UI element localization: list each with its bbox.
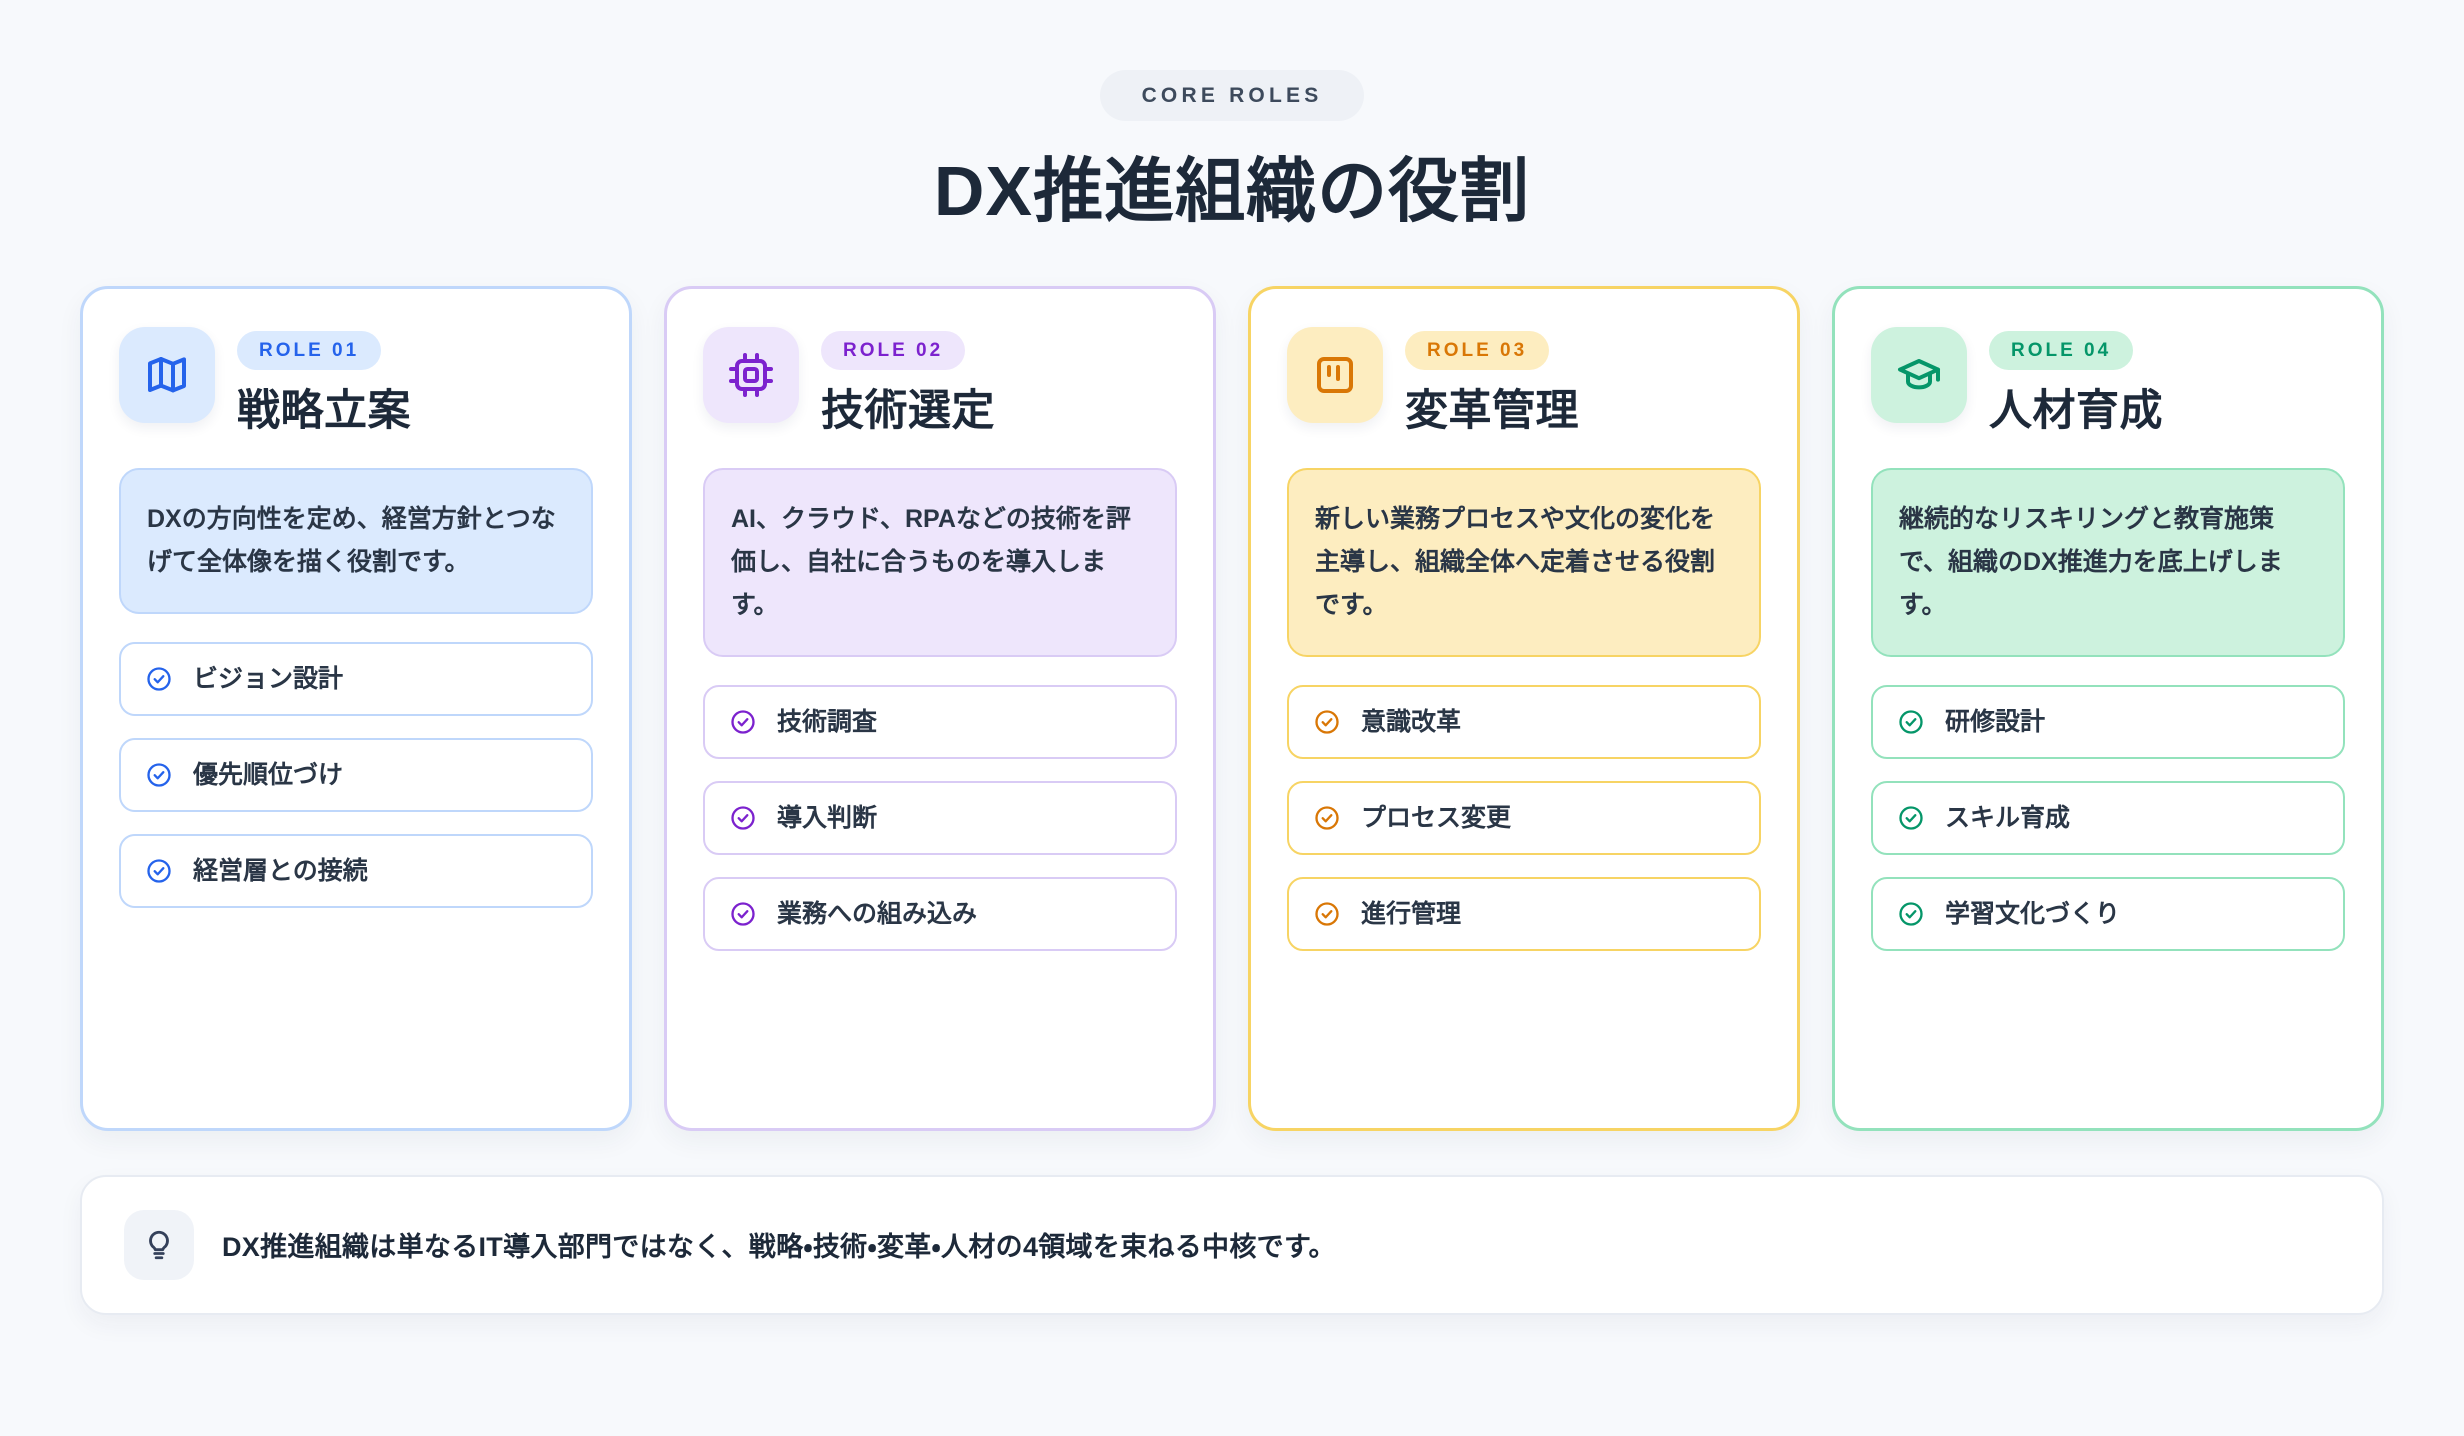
list-item-label: 進行管理 xyxy=(1361,899,1461,929)
page-header: CORE ROLES DX推進組織の役割 xyxy=(0,0,2464,232)
list-item-label: ビジョン設計 xyxy=(193,664,343,694)
card-header: ROLE 04人材育成 xyxy=(1871,327,2345,437)
list-item[interactable]: 優先順位づけ xyxy=(119,738,593,812)
card-item-list: 研修設計スキル育成学習文化づくり xyxy=(1871,685,2345,951)
check-circle-icon xyxy=(729,804,757,832)
list-item-label: 優先順位づけ xyxy=(193,760,343,790)
card-description: 継続的なリスキリングと教育施策で、組織のDX推進力を底上げします。 xyxy=(1871,468,2345,657)
list-item[interactable]: プロセス変更 xyxy=(1287,781,1761,855)
card-header: ROLE 02技術選定 xyxy=(703,327,1177,437)
card-header-text: ROLE 02技術選定 xyxy=(821,327,995,437)
check-circle-icon xyxy=(729,900,757,928)
card-header: ROLE 01戦略立案 xyxy=(119,327,593,437)
card-title: 技術選定 xyxy=(821,386,995,437)
list-item[interactable]: ビジョン設計 xyxy=(119,642,593,716)
role-card[interactable]: ROLE 02技術選定AI、クラウド、RPAなどの技術を評価し、自社に合うものを… xyxy=(664,286,1216,1131)
list-item-label: プロセス変更 xyxy=(1361,803,1511,833)
footer-note-text: DX推進組織は単なるIT導入部門ではなく、戦略・技術・変革・人材の4領域を束ねる… xyxy=(222,1225,1336,1264)
check-circle-icon xyxy=(1897,804,1925,832)
list-item-label: 研修設計 xyxy=(1945,707,2045,737)
card-title: 人材育成 xyxy=(1989,386,2163,437)
check-circle-icon xyxy=(145,857,173,885)
map-icon xyxy=(119,327,215,423)
role-badge: ROLE 01 xyxy=(237,331,381,370)
cpu-chip-icon xyxy=(703,327,799,423)
eyebrow-badge: CORE ROLES xyxy=(1100,70,1365,121)
list-item-label: スキル育成 xyxy=(1945,803,2070,833)
footer-note: DX推進組織は単なるIT導入部門ではなく、戦略・技術・変革・人材の4領域を束ねる… xyxy=(80,1175,2384,1315)
list-item-label: 技術調査 xyxy=(777,707,877,737)
card-description: 新しい業務プロセスや文化の変化を主導し、組織全体へ定着させる役割です。 xyxy=(1287,468,1761,657)
card-header: ROLE 03変革管理 xyxy=(1287,327,1761,437)
lightbulb-icon xyxy=(124,1210,194,1280)
check-circle-icon xyxy=(1313,804,1341,832)
role-card[interactable]: ROLE 04人材育成継続的なリスキリングと教育施策で、組織のDX推進力を底上げ… xyxy=(1832,286,2384,1131)
role-badge: ROLE 03 xyxy=(1405,331,1549,370)
card-item-list: 技術調査導入判断業務への組み込み xyxy=(703,685,1177,951)
check-circle-icon xyxy=(145,665,173,693)
slide-root: CORE ROLES DX推進組織の役割 ROLE 01戦略立案DXの方向性を定… xyxy=(0,0,2464,1436)
list-item[interactable]: 研修設計 xyxy=(1871,685,2345,759)
list-item[interactable]: 経営層との接続 xyxy=(119,834,593,908)
card-header-text: ROLE 01戦略立案 xyxy=(237,327,411,437)
card-header-text: ROLE 04人材育成 xyxy=(1989,327,2163,437)
check-circle-icon xyxy=(1897,900,1925,928)
list-item-label: 経営層との接続 xyxy=(193,856,368,886)
card-header-text: ROLE 03変革管理 xyxy=(1405,327,1579,437)
check-circle-icon xyxy=(1313,708,1341,736)
card-description: DXの方向性を定め、経営方針とつなげて全体像を描く役割です。 xyxy=(119,468,593,614)
check-circle-icon xyxy=(1313,900,1341,928)
role-badge: ROLE 04 xyxy=(1989,331,2133,370)
graduation-cap-icon xyxy=(1871,327,1967,423)
role-card[interactable]: ROLE 01戦略立案DXの方向性を定め、経営方針とつなげて全体像を描く役割です… xyxy=(80,286,632,1131)
list-item-label: 学習文化づくり xyxy=(1945,899,2120,929)
card-item-list: ビジョン設計優先順位づけ経営層との接続 xyxy=(119,642,593,908)
card-title: 戦略立案 xyxy=(237,386,411,437)
list-item[interactable]: スキル育成 xyxy=(1871,781,2345,855)
card-title: 変革管理 xyxy=(1405,386,1579,437)
kanban-board-icon xyxy=(1287,327,1383,423)
list-item[interactable]: 技術調査 xyxy=(703,685,1177,759)
list-item[interactable]: 業務への組み込み xyxy=(703,877,1177,951)
card-item-list: 意識改革プロセス変更進行管理 xyxy=(1287,685,1761,951)
list-item-label: 意識改革 xyxy=(1361,707,1461,737)
check-circle-icon xyxy=(145,761,173,789)
page-title: DX推進組織の役割 xyxy=(0,151,2464,232)
list-item[interactable]: 導入判断 xyxy=(703,781,1177,855)
check-circle-icon xyxy=(1897,708,1925,736)
list-item-label: 業務への組み込み xyxy=(777,899,977,929)
list-item-label: 導入判断 xyxy=(777,803,877,833)
role-card[interactable]: ROLE 03変革管理新しい業務プロセスや文化の変化を主導し、組織全体へ定着させ… xyxy=(1248,286,1800,1131)
role-card-grid: ROLE 01戦略立案DXの方向性を定め、経営方針とつなげて全体像を描く役割です… xyxy=(0,286,2464,1131)
list-item[interactable]: 進行管理 xyxy=(1287,877,1761,951)
role-badge: ROLE 02 xyxy=(821,331,965,370)
check-circle-icon xyxy=(729,708,757,736)
list-item[interactable]: 意識改革 xyxy=(1287,685,1761,759)
card-description: AI、クラウド、RPAなどの技術を評価し、自社に合うものを導入します。 xyxy=(703,468,1177,657)
list-item[interactable]: 学習文化づくり xyxy=(1871,877,2345,951)
